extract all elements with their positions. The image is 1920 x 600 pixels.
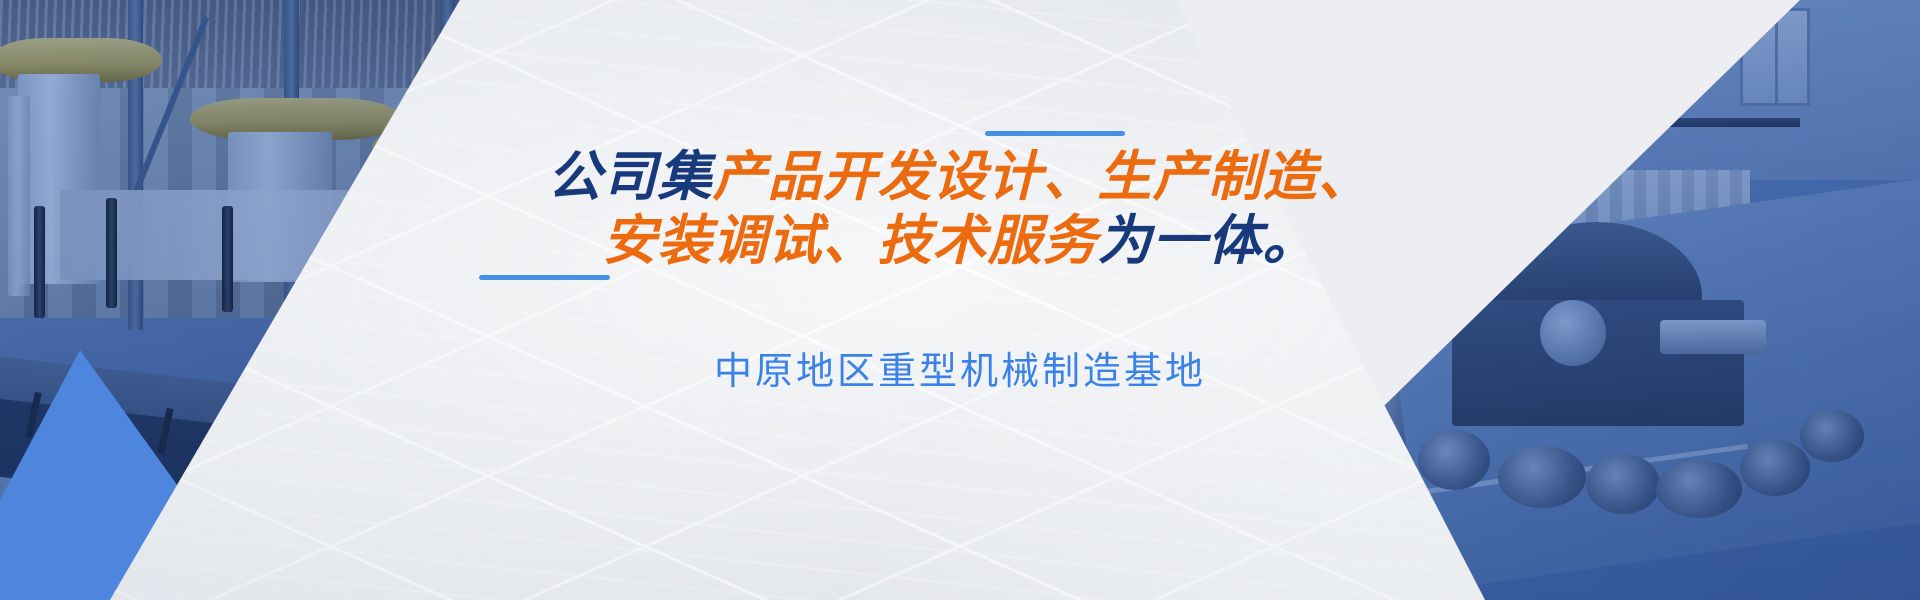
accent-rule-bottom: [479, 275, 610, 280]
hero-banner: 公司集产品开发设计、生产制造、 安装调试、技术服务为一体。 中原地区重型机械制造…: [0, 0, 1920, 600]
accent-rule-top: [985, 131, 1125, 136]
headline-line2-orange-text: 安装调试、技术服务: [603, 211, 1098, 271]
headline-line-1: 公司集产品开发设计、生产制造、: [0, 145, 1920, 209]
headline-line-2: 安装调试、技术服务为一体。: [0, 209, 1920, 273]
banner-subtitle: 中原地区重型机械制造基地: [0, 340, 1920, 395]
banner-content: 公司集产品开发设计、生产制造、 安装调试、技术服务为一体。 中原地区重型机械制造…: [0, 0, 1920, 600]
headline-line1-navy-text: 公司集: [548, 147, 713, 207]
headline-line2-navy-text: 为一体。: [1098, 211, 1318, 271]
headline-line1-orange-text: 产品开发设计、生产制造、: [713, 147, 1373, 207]
banner-headline: 公司集产品开发设计、生产制造、 安装调试、技术服务为一体。: [0, 145, 1920, 273]
